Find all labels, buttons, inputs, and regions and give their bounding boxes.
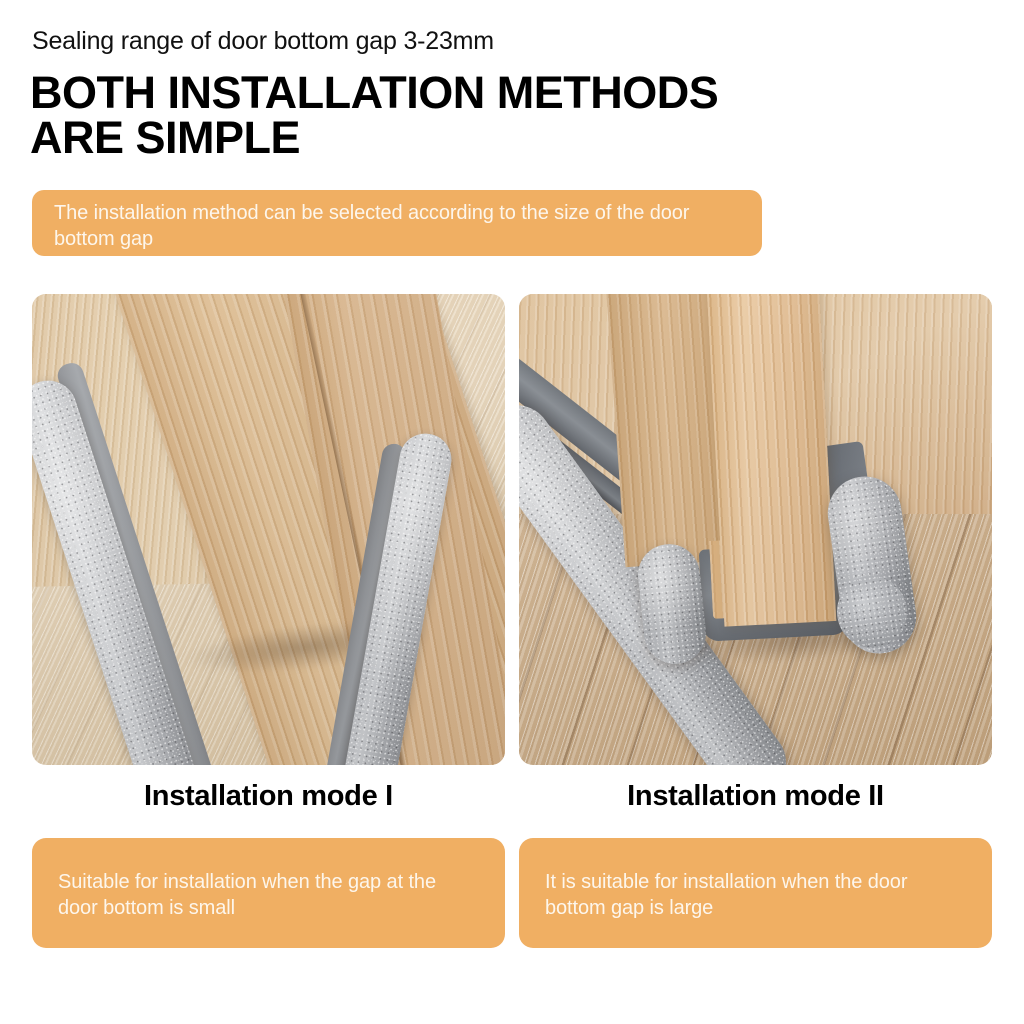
headline-line-2: ARE SIMPLE [30,115,990,160]
description-card-2-text: It is suitable for installation when the… [545,869,966,921]
info-banner-text: The installation method can be selected … [54,200,740,252]
scene-mode-1 [32,294,505,765]
scene-mode-2 [519,294,992,765]
photo-row [32,294,992,765]
infographic-page: Sealing range of door bottom gap 3-23mm … [0,0,1024,1024]
headline-line-1: BOTH INSTALLATION METHODS [30,70,990,115]
description-card-1: Suitable for installation when the gap a… [32,838,505,948]
door-panel-right [706,294,837,627]
caption-installation-mode-2: Installation mode II [519,779,992,813]
page-title: BOTH INSTALLATION METHODS ARE SIMPLE [30,70,990,160]
caption-installation-mode-1: Installation mode I [32,779,505,813]
photo-installation-mode-1 [32,294,505,765]
description-card-1-text: Suitable for installation when the gap a… [58,869,479,921]
info-banner: The installation method can be selected … [32,190,762,256]
photo-installation-mode-2 [519,294,992,765]
subtitle-text: Sealing range of door bottom gap 3-23mm [32,26,494,56]
description-card-2: It is suitable for installation when the… [519,838,992,948]
